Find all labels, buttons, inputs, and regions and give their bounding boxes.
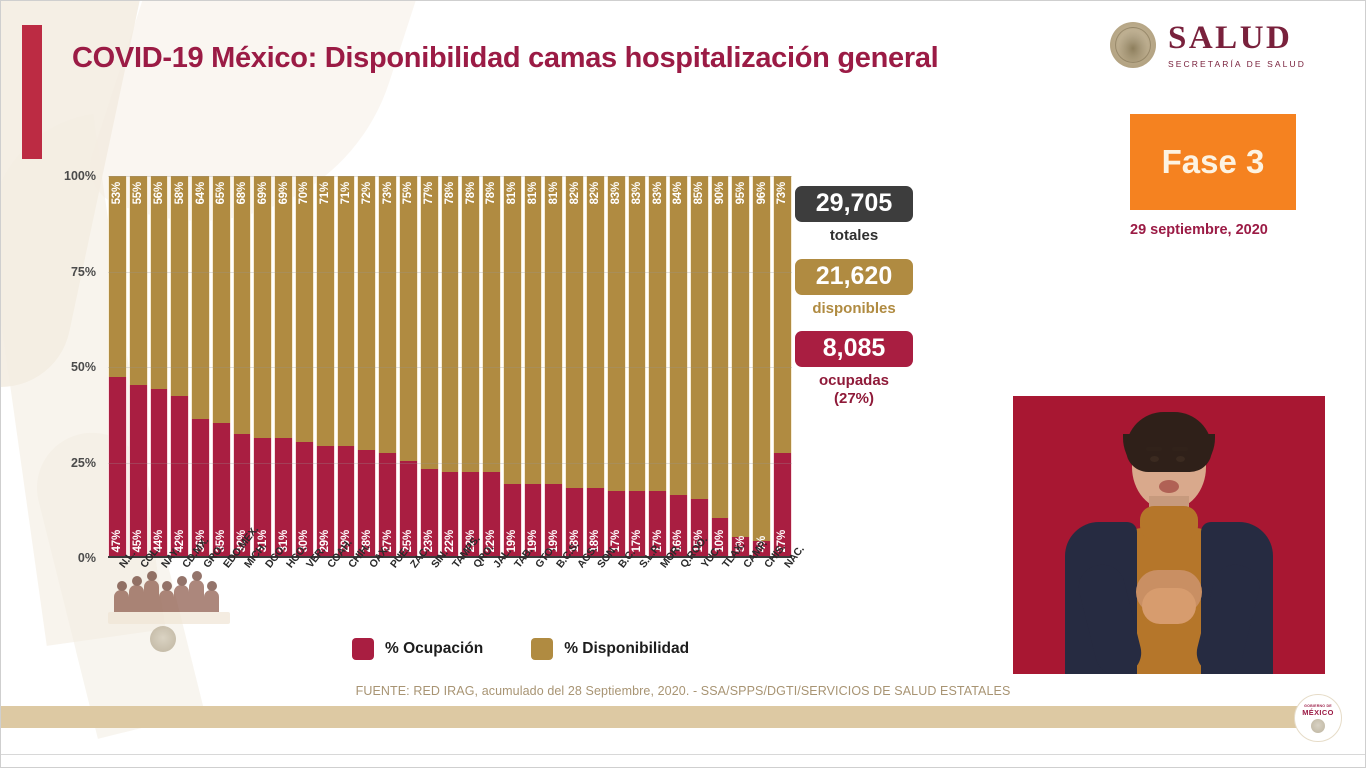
bar-column[interactable]: 90%10% (711, 176, 730, 556)
bar-segment-ocupacion: 44% (150, 389, 169, 556)
bar-label-disponibilidad: 78% (465, 182, 477, 204)
bar-column[interactable]: 78%22% (461, 176, 480, 556)
bar-segment-ocupacion: 47% (108, 377, 127, 556)
x-axis-label-cell: CD.MX. (170, 560, 189, 624)
bar-column[interactable]: 96%4% (752, 176, 771, 556)
legend-swatch-ocupacion (352, 638, 374, 660)
bar-column[interactable]: 72%28% (357, 176, 376, 556)
bar-column[interactable]: 69%31% (253, 176, 272, 556)
interpreter-turtleneck (1140, 506, 1198, 540)
bar-column[interactable]: 82%18% (586, 176, 605, 556)
bar-segment-disponibilidad: 64% (191, 176, 210, 419)
bar-label-disponibilidad: 56% (153, 182, 165, 204)
x-axis-label-cell: GRO. (191, 560, 210, 624)
x-axis-label-cell: YUC. (690, 560, 709, 624)
bar-label-disponibilidad: 77% (423, 182, 435, 204)
bar-label-disponibilidad: 83% (652, 182, 664, 204)
bar-label-disponibilidad: 85% (693, 182, 705, 204)
bar-segment-disponibilidad: 83% (648, 176, 667, 491)
bar-label-disponibilidad: 90% (714, 182, 726, 204)
bar-label-disponibilidad: 73% (382, 182, 394, 204)
mexican-eagle-seal-icon (1110, 22, 1156, 68)
bar-column[interactable]: 84%16% (669, 176, 688, 556)
plot-area: 53%47%55%45%56%44%58%42%64%36%65%35%68%3… (108, 176, 792, 558)
podium-seal-icon (150, 626, 176, 652)
bar-segment-disponibilidad: 81% (503, 176, 522, 484)
bar-segment-disponibilidad: 85% (690, 176, 709, 499)
bar-segment-disponibilidad: 82% (565, 176, 584, 488)
bar-segment-disponibilidad: 81% (524, 176, 543, 484)
y-axis-tick: 25% (71, 456, 96, 470)
bar-label-disponibilidad: 71% (319, 182, 331, 204)
stat-occupied: 8,085 ocupadas (27%) (795, 331, 913, 407)
interpreter-mouth (1159, 480, 1179, 493)
x-axis-label-cell: MOR. (648, 560, 667, 624)
bar-segment-disponibilidad: 83% (607, 176, 626, 491)
x-axis-label-cell: CHIS. (752, 560, 771, 624)
x-axis-label-cell: GTO. (524, 560, 543, 624)
stat-total: 29,705 totales (795, 186, 913, 245)
x-axis-label-cell: EDO.MEX. (212, 560, 231, 624)
bar-column[interactable]: 56%44% (150, 176, 169, 556)
stat-available: 21,620 disponibles (795, 259, 913, 318)
bar-segment-disponibilidad: 96% (752, 176, 771, 541)
legend-item-ocupacion: % Ocupación (352, 638, 483, 660)
y-axis-tick: 100% (64, 169, 96, 183)
bar-column[interactable]: 83%17% (648, 176, 667, 556)
bar-column[interactable]: 78%22% (482, 176, 501, 556)
x-axis-label-cell: JAL. (482, 560, 501, 624)
bar-column[interactable]: 83%17% (628, 176, 647, 556)
bar-column[interactable]: 82%18% (565, 176, 584, 556)
salud-logo: SALUD SECRETARÍA DE SALUD (1110, 22, 1306, 69)
x-axis-label-cell: DGO. (253, 560, 272, 624)
gobierno-emblem-seal-icon (1311, 719, 1325, 733)
chart-legend: % Ocupación % Disponibilidad (352, 638, 689, 660)
bar-column[interactable]: 70%30% (295, 176, 314, 556)
stat-total-caption: totales (795, 227, 913, 244)
bar-segment-disponibilidad: 95% (731, 176, 750, 537)
bar-segment-disponibilidad: 70% (295, 176, 314, 442)
bar-label-disponibilidad: 81% (527, 182, 539, 204)
x-axis-label-cell: Q.ROO. (669, 560, 688, 624)
interpreter-eye-left (1150, 456, 1159, 462)
gobierno-emblem-main-text: MÉXICO (1302, 708, 1334, 717)
y-axis-tick: 50% (71, 360, 96, 374)
x-axis-label-cell: S.L.P. (628, 560, 647, 624)
bar-column[interactable]: 68%32% (233, 176, 252, 556)
bar-segment-disponibilidad: 77% (420, 176, 439, 469)
x-axis-label-cell: HGO. (274, 560, 293, 624)
bar-column[interactable]: 53%47% (108, 176, 127, 556)
x-axis-label-cell: ZAC. (399, 560, 418, 624)
sign-language-interpreter-video[interactable] (1013, 396, 1325, 674)
slide-root: COVID-19 México: Disponibilidad camas ho… (0, 0, 1366, 768)
bar-label-disponibilidad: 78% (444, 182, 456, 204)
y-axis-tick: 75% (71, 265, 96, 279)
stat-total-value: 29,705 (795, 186, 913, 222)
bar-segment-disponibilidad: 72% (357, 176, 376, 450)
bar-column[interactable]: 71%29% (337, 176, 356, 556)
stat-occupied-caption: ocupadas (27%) (795, 372, 913, 407)
x-axis-label-cell: AGS. (565, 560, 584, 624)
bar-column[interactable]: 69%31% (274, 176, 293, 556)
bar-label-disponibilidad: 70% (298, 182, 310, 204)
bar-segment-disponibilidad: 78% (441, 176, 460, 472)
bar-column[interactable]: 71%29% (316, 176, 335, 556)
bar-column[interactable]: 65%35% (212, 176, 231, 556)
x-axis-label-cell: COAH. (316, 560, 335, 624)
bar-segment-ocupacion: 25% (399, 461, 418, 556)
y-axis-tick: 0% (78, 551, 96, 565)
x-axis-label-cell: CHIH. (337, 560, 356, 624)
x-axis-label-cell: B.C.S. (544, 560, 563, 624)
bar-segment-disponibilidad: 56% (150, 176, 169, 389)
bar-segment-disponibilidad: 68% (233, 176, 252, 434)
bar-segment-disponibilidad: 82% (586, 176, 605, 488)
bar-segment-disponibilidad: 69% (253, 176, 272, 438)
bar-label-disponibilidad: 81% (506, 182, 518, 204)
interpreter-eyebrow-left (1146, 447, 1162, 451)
bar-segment-disponibilidad: 73% (378, 176, 397, 453)
bar-label-disponibilidad: 58% (174, 182, 186, 204)
salud-logo-subtitle: SECRETARÍA DE SALUD (1168, 60, 1306, 69)
bar-column[interactable]: 77%23% (420, 176, 439, 556)
bar-segment-ocupacion: 31% (274, 438, 293, 556)
bar-segment-disponibilidad: 90% (711, 176, 730, 518)
title-accent-bar (22, 25, 42, 159)
bar-label-disponibilidad: 82% (589, 182, 601, 204)
bar-segment-disponibilidad: 65% (212, 176, 231, 423)
x-axis-label-cell: COL. (129, 560, 148, 624)
bar-segment-ocupacion: 17% (628, 491, 647, 556)
bar-segment-disponibilidad: 71% (337, 176, 356, 446)
stat-available-value: 21,620 (795, 259, 913, 295)
bar-segment-ocupacion: 28% (357, 450, 376, 556)
bar-segment-disponibilidad: 81% (544, 176, 563, 484)
x-axis-label-cell: B.C. (607, 560, 626, 624)
x-axis-label-cell: MICH. (233, 560, 252, 624)
bar-column[interactable]: 81%19% (503, 176, 522, 556)
phase-date: 29 septiembre, 2020 (1130, 222, 1330, 238)
bar-column[interactable]: 85%15% (690, 176, 709, 556)
bar-column[interactable]: 58%42% (170, 176, 189, 556)
bar-label-ocupacion: 22% (444, 530, 456, 552)
bar-label-disponibilidad: 71% (340, 182, 352, 204)
legend-label-ocupacion: % Ocupación (385, 640, 483, 658)
phase-badge: Fase 3 (1130, 114, 1296, 210)
x-axis-label-cell: SON. (586, 560, 605, 624)
page-title: COVID-19 México: Disponibilidad camas ho… (72, 40, 992, 77)
bar-label-disponibilidad: 72% (361, 182, 373, 204)
source-footnote: FUENTE: RED IRAG, acumulado del 28 Septi… (0, 684, 1366, 698)
x-axis-label-cell: TAB. (503, 560, 522, 624)
x-axis-label-cell: TLAX. (711, 560, 730, 624)
bottom-strip (0, 754, 1366, 768)
x-axis-label-cell: VER. (295, 560, 314, 624)
bar-segment-disponibilidad: 55% (129, 176, 148, 385)
bar-segment-ocupacion: 29% (316, 446, 335, 556)
bar-segment-disponibilidad: 75% (399, 176, 418, 461)
y-axis: 0%25%50%75%100% (52, 176, 104, 558)
bar-label-ocupacion: 47% (111, 530, 123, 552)
interpreter-eye-right (1176, 456, 1185, 462)
stat-occupied-caption-line2: (27%) (834, 390, 874, 407)
bar-segment-ocupacion: 31% (253, 438, 272, 556)
x-axis-label-cell: PUE. (378, 560, 397, 624)
bar-label-disponibilidad: 82% (569, 182, 581, 204)
salud-logo-text: SALUD SECRETARÍA DE SALUD (1168, 22, 1306, 69)
bar-label-ocupacion: 17% (631, 530, 643, 552)
bar-segment-ocupacion: 30% (295, 442, 314, 556)
bar-segment-disponibilidad: 53% (108, 176, 127, 377)
bar-label-disponibilidad: 84% (672, 182, 684, 204)
bar-label-disponibilidad: 83% (610, 182, 622, 204)
x-axis-label-cell: NAY. (150, 560, 169, 624)
legend-label-disponibilidad: % Disponibilidad (564, 640, 689, 658)
interpreter-hair (1126, 412, 1212, 472)
bar-label-disponibilidad: 69% (257, 182, 269, 204)
bar-segment-ocupacion: 35% (212, 423, 231, 556)
bar-column[interactable]: 75%25% (399, 176, 418, 556)
bar-column[interactable]: 95%5% (731, 176, 750, 556)
bar-label-disponibilidad: 55% (132, 182, 144, 204)
bar-column[interactable]: 78%22% (441, 176, 460, 556)
bar-label-disponibilidad: 81% (548, 182, 560, 204)
bar-segment-disponibilidad: 78% (461, 176, 480, 472)
bar-segment-ocupacion: 23% (420, 469, 439, 556)
x-axis-label-cell: QRO. (461, 560, 480, 624)
x-axis-label-cell: SIN. (420, 560, 439, 624)
bar-label-disponibilidad: 73% (776, 182, 788, 204)
bar-segment-disponibilidad: 71% (316, 176, 335, 446)
bar-label-disponibilidad: 65% (215, 182, 227, 204)
legend-swatch-disponibilidad (531, 638, 553, 660)
bar-column[interactable]: 73%27% (773, 176, 792, 556)
bar-segment-ocupacion: 42% (170, 396, 189, 556)
bar-segment-disponibilidad: 69% (274, 176, 293, 438)
bar-column[interactable]: 81%19% (544, 176, 563, 556)
x-axis-label-cell: CAMP. (731, 560, 750, 624)
x-axis-labels: N.L.COL.NAY.CD.MX.GRO.EDO.MEX.MICH.DGO.H… (108, 560, 792, 624)
interpreter-eyebrow-right (1172, 447, 1188, 451)
stat-occupied-caption-line1: ocupadas (819, 372, 889, 389)
bar-segment-ocupacion: 45% (129, 385, 148, 556)
bar-label-disponibilidad: 69% (278, 182, 290, 204)
bar-segment-ocupacion: 27% (378, 453, 397, 556)
bar-label-disponibilidad: 83% (631, 182, 643, 204)
bar-label-disponibilidad: 78% (485, 182, 497, 204)
bar-label-disponibilidad: 75% (402, 182, 414, 204)
phase-label: Fase 3 (1162, 143, 1265, 181)
gobierno-mexico-emblem: GOBIERNO DE MÉXICO (1294, 694, 1342, 742)
salud-logo-name: SALUD (1168, 22, 1306, 55)
bar-label-ocupacion: 45% (132, 530, 144, 552)
bar-segment-disponibilidad: 73% (773, 176, 792, 453)
bar-label-disponibilidad: 95% (735, 182, 747, 204)
stat-available-caption: disponibles (795, 300, 913, 317)
bar-segment-disponibilidad: 84% (669, 176, 688, 495)
x-axis-label-cell: OAX. (357, 560, 376, 624)
legend-item-disponibilidad: % Disponibilidad (531, 638, 689, 660)
bar-column[interactable]: 55%45% (129, 176, 148, 556)
stat-occupied-value: 8,085 (795, 331, 913, 367)
interpreter-hands-front (1142, 588, 1196, 624)
bar-label-disponibilidad: 68% (236, 182, 248, 204)
bar-label-disponibilidad: 53% (111, 182, 123, 204)
bar-segment-disponibilidad: 83% (628, 176, 647, 491)
bar-column[interactable]: 83%17% (607, 176, 626, 556)
bar-column[interactable]: 73%27% (378, 176, 397, 556)
bar-segment-disponibilidad: 58% (170, 176, 189, 396)
x-axis-label-cell: NAC. (773, 560, 792, 624)
bar-segment-ocupacion: 19% (503, 484, 522, 556)
bar-segment-disponibilidad: 78% (482, 176, 501, 472)
bar-label-disponibilidad: 96% (756, 182, 768, 204)
bar-label-disponibilidad: 64% (195, 182, 207, 204)
bar-segment-ocupacion: 22% (441, 472, 460, 556)
footer-bar (0, 706, 1323, 728)
bar-column[interactable]: 81%19% (524, 176, 543, 556)
x-axis-label-cell: N.L. (108, 560, 127, 624)
bar-column[interactable]: 64%36% (191, 176, 210, 556)
bed-availability-chart: 0%25%50%75%100% 53%47%55%45%56%44%58%42%… (52, 176, 792, 576)
bar-segment-ocupacion: 27% (773, 453, 792, 556)
x-axis-label-cell: TAMPS. (441, 560, 460, 624)
summary-stats: 29,705 totales 21,620 disponibles 8,085 … (795, 186, 913, 421)
